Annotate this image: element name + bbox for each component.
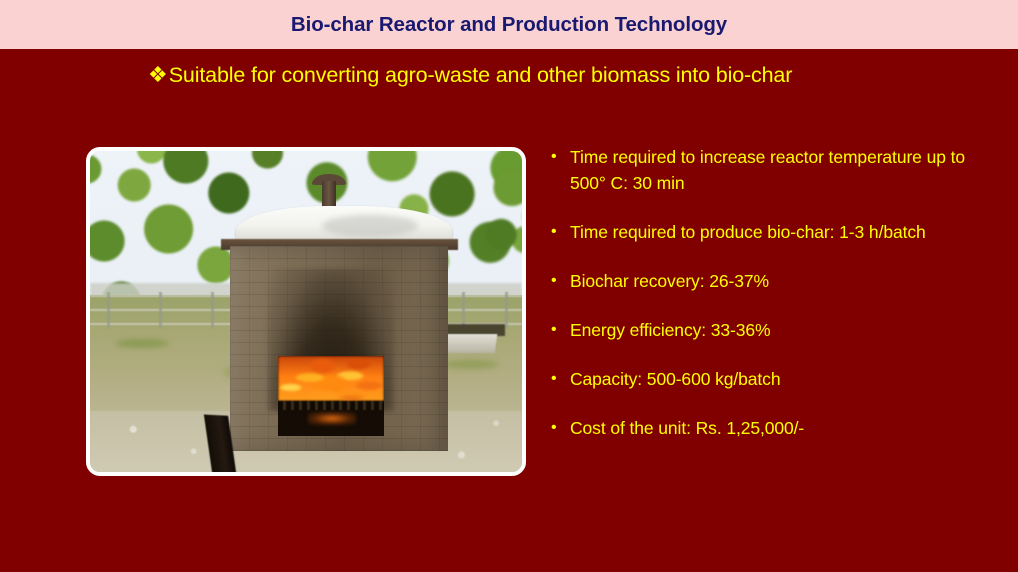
reactor-photo-canvas	[90, 151, 522, 472]
list-item-label: Biochar recovery: 26-37%	[570, 268, 990, 294]
subtitle-text: Suitable for converting agro-waste and o…	[169, 60, 793, 90]
bullet-marker-icon: •	[548, 415, 570, 441]
photo-tree-far	[482, 159, 522, 289]
bullet-marker-icon: •	[548, 366, 570, 392]
list-item: • Energy efficiency: 33-36%	[548, 317, 990, 343]
bullet-marker-icon: •	[548, 268, 570, 294]
list-item-label: Time required to produce bio-char: 1-3 h…	[570, 219, 990, 245]
spec-bullet-list: • Time required to increase reactor temp…	[548, 144, 990, 464]
page-title: Bio-char Reactor and Production Technolo…	[291, 13, 727, 37]
photo-roof-shadow	[322, 215, 418, 237]
list-item: • Cost of the unit: Rs. 1,25,000/-	[548, 415, 990, 441]
bullet-marker-icon: •	[548, 317, 570, 343]
slide-root: Bio-char Reactor and Production Technolo…	[0, 0, 1018, 572]
bullet-marker-icon: •	[548, 144, 570, 170]
photo-chimney	[322, 181, 336, 209]
list-item-label: Time required to increase reactor temper…	[570, 144, 990, 196]
list-item: • Time required to produce bio-char: 1-3…	[548, 219, 990, 245]
slide-header-band: Bio-char Reactor and Production Technolo…	[0, 0, 1018, 49]
bullet-marker-icon: •	[548, 219, 570, 245]
list-item-label: Cost of the unit: Rs. 1,25,000/-	[570, 415, 990, 441]
list-item-label: Energy efficiency: 33-36%	[570, 317, 990, 343]
list-item-label: Capacity: 500-600 kg/batch	[570, 366, 990, 392]
list-item: • Capacity: 500-600 kg/batch	[548, 366, 990, 392]
list-item: • Biochar recovery: 26-37%	[548, 268, 990, 294]
photo-embers	[308, 412, 357, 425]
photo-firebox	[278, 356, 384, 436]
list-item: • Time required to increase reactor temp…	[548, 144, 990, 196]
reactor-photo	[86, 147, 526, 476]
photo-grate	[278, 401, 384, 410]
diamond-bullet-icon: ❖	[148, 60, 168, 90]
subtitle-line: ❖ Suitable for converting agro-waste and…	[148, 60, 792, 90]
